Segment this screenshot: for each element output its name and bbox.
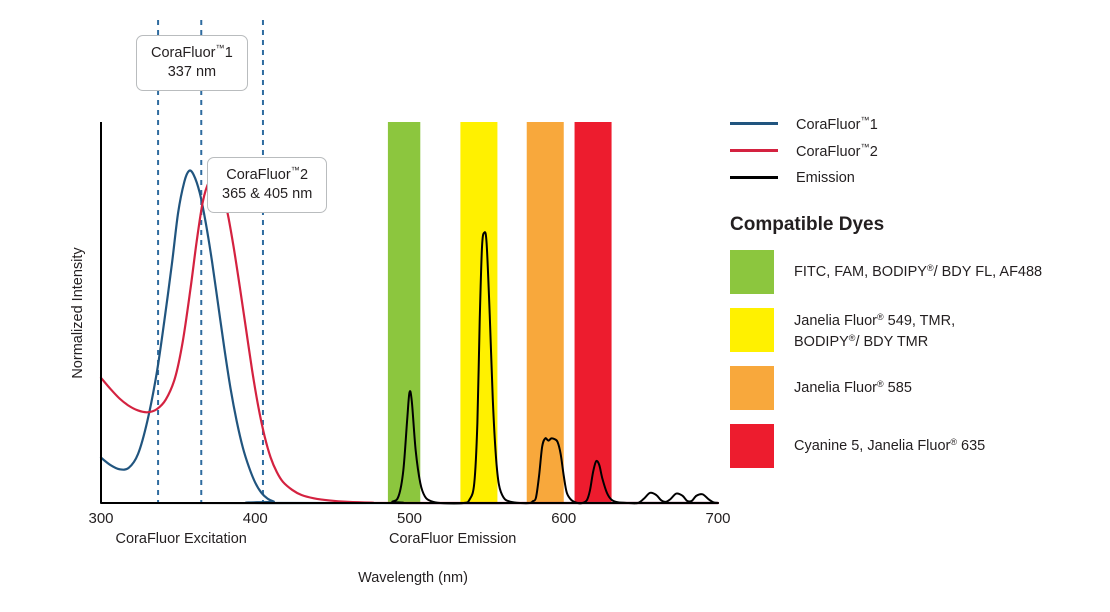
legend-label-index: 1 (870, 117, 878, 133)
spectra-chart-svg: 300400500600700 CoraFluor ExcitationCora… (0, 0, 730, 612)
dye-color-swatch (730, 424, 774, 468)
legend-label-name: CoraFluor (796, 117, 860, 133)
chart-plot-area: 300400500600700 CoraFluor ExcitationCora… (0, 0, 730, 612)
legend-item-2[interactable]: Emission (730, 164, 1110, 191)
dye-label-line1: FITC, FAM, BODIPY®/ BDY FL, AF488 (794, 262, 1042, 283)
yellow-band (460, 122, 497, 503)
dye-row-3[interactable]: Cyanine 5, Janelia Fluor® 635 (730, 424, 1110, 468)
legend-item-label: Emission (796, 170, 855, 186)
y-axis-title: Normalized Intensity (70, 247, 86, 379)
compatible-dyes-list: FITC, FAM, BODIPY®/ BDY FL, AF488Janelia… (730, 250, 1110, 468)
dye-name-tail: 635 (957, 438, 985, 454)
dye-label-line1: Janelia Fluor® 549, TMR, (794, 311, 955, 332)
callout-cf2-line2: 365 & 405 nm (222, 185, 312, 204)
compatible-dyes-heading: Compatible Dyes (730, 214, 1110, 236)
callout-cf1-name: CoraFluor (151, 45, 215, 61)
dye-row-0[interactable]: FITC, FAM, BODIPY®/ BDY FL, AF488 (730, 250, 1110, 294)
trademark-icon: ™ (860, 115, 869, 125)
dye-color-swatch (730, 250, 774, 294)
callout-cf2-name: CoraFluor (226, 167, 290, 183)
red-band (575, 122, 612, 503)
dye-label: Janelia Fluor® 585 (794, 366, 912, 399)
dye-name: FITC, FAM, BODIPY (794, 264, 927, 280)
dye-name: Janelia Fluor (794, 380, 877, 396)
trademark-icon: ™ (291, 165, 300, 175)
x-tick-label-400: 400 (243, 510, 268, 527)
callout-cf2-line1: CoraFluor™2 (222, 165, 312, 185)
dye-name: Janelia Fluor (794, 313, 877, 329)
region-caption-excitation: CoraFluor Excitation (116, 531, 247, 547)
region-caption-emission: CoraFluor Emission (389, 531, 516, 547)
x-axis-title: Wavelength (nm) (358, 570, 468, 586)
region-caption-group: CoraFluor ExcitationCoraFluor Emission (116, 531, 517, 547)
x-tick-label-300: 300 (88, 510, 113, 527)
legend-line-swatch (730, 149, 778, 152)
dye-label: FITC, FAM, BODIPY®/ BDY FL, AF488 (794, 250, 1042, 283)
dye-name-2-tail: / BDY TMR (855, 334, 928, 350)
excitation-marker-group (158, 20, 263, 503)
trademark-icon: ™ (860, 142, 869, 152)
dye-name-tail: 549, TMR, (884, 313, 955, 329)
dye-name-tail: / BDY FL, AF488 (934, 264, 1043, 280)
legend-label-index: 2 (870, 144, 878, 160)
spectra-figure: 300400500600700 CoraFluor ExcitationCora… (0, 0, 1110, 612)
callout-cf1-index: 1 (225, 45, 233, 61)
dye-label-line2: BODIPY®/ BDY TMR (794, 332, 955, 353)
legend-item-0[interactable]: CoraFluor™1 (730, 110, 1110, 137)
registered-icon: ® (877, 312, 884, 322)
x-tick-label-700: 700 (705, 510, 730, 527)
registered-icon: ® (877, 379, 884, 389)
dye-name-2: BODIPY (794, 334, 849, 350)
x-tick-label-500: 500 (397, 510, 422, 527)
dye-color-swatch (730, 308, 774, 352)
trademark-icon: ™ (215, 43, 224, 53)
legend-panel: CoraFluor™1CoraFluor™2Emission Compatibl… (730, 0, 1110, 612)
x-tick-label-600: 600 (551, 510, 576, 527)
dye-name: Cyanine 5, Janelia Fluor (794, 438, 950, 454)
dye-row-2[interactable]: Janelia Fluor® 585 (730, 366, 1110, 410)
legend-item-label: CoraFluor™2 (796, 142, 878, 160)
callout-cf1-line2: 337 nm (151, 63, 233, 82)
callout-corafluor2: CoraFluor™2 365 & 405 nm (207, 157, 327, 213)
callout-cf2-index: 2 (300, 167, 308, 183)
legend-line-swatch (730, 122, 778, 125)
legend-line-swatch (730, 176, 778, 179)
registered-icon: ® (927, 263, 934, 273)
legend-label-name: Emission (796, 170, 855, 186)
series-legend: CoraFluor™1CoraFluor™2Emission (730, 110, 1110, 191)
legend-item-1[interactable]: CoraFluor™2 (730, 137, 1110, 164)
callout-cf1-line1: CoraFluor™1 (151, 43, 233, 63)
emission-band-group (388, 122, 612, 503)
dye-label-line1: Cyanine 5, Janelia Fluor® 635 (794, 436, 985, 457)
callout-corafluor1: CoraFluor™1 337 nm (136, 35, 248, 91)
dye-name-tail: 585 (884, 380, 912, 396)
dye-row-1[interactable]: Janelia Fluor® 549, TMR,BODIPY®/ BDY TMR (730, 308, 1110, 352)
x-tick-label-group: 300400500600700 (88, 510, 730, 527)
dye-label: Cyanine 5, Janelia Fluor® 635 (794, 424, 985, 457)
legend-label-name: CoraFluor (796, 144, 860, 160)
dye-color-swatch (730, 366, 774, 410)
dye-label-line1: Janelia Fluor® 585 (794, 378, 912, 399)
legend-item-label: CoraFluor™1 (796, 115, 878, 133)
dye-label: Janelia Fluor® 549, TMR,BODIPY®/ BDY TMR (794, 308, 955, 352)
